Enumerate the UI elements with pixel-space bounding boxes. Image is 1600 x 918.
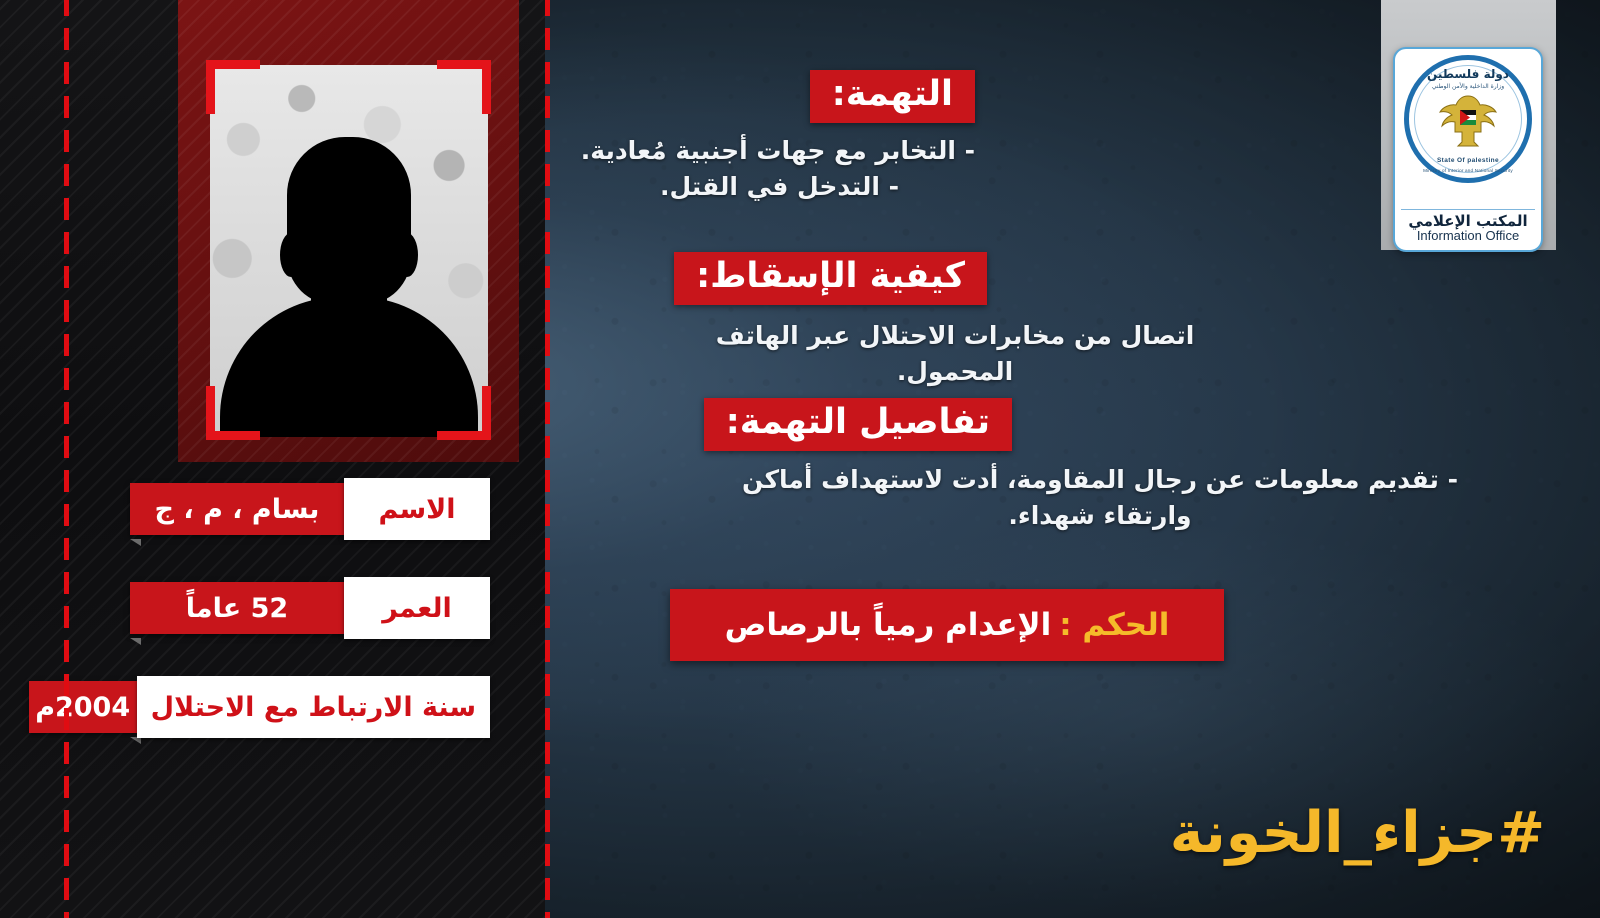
section-body-details: - تقديم معلومات عن رجال المقاومة، أدت لا… (660, 462, 1540, 533)
details-line-1: - تقديم معلومات عن رجال المقاومة، أدت لا… (660, 462, 1540, 498)
divider-dashed-inner (545, 0, 550, 918)
divider-dashed-outer (64, 0, 69, 918)
charge-item-1: - التخابر مع جهات أجنبية مُعادية. (660, 133, 975, 169)
section-heading-details: تفاصيل التهمة: (704, 398, 1012, 451)
section-body-charge: - التخابر مع جهات أجنبية مُعادية. - التد… (660, 133, 975, 204)
info-row-fold-shadow (130, 638, 141, 645)
focus-corner-top-right-icon (437, 60, 491, 114)
info-row-name: الاسم بسام ، م ، ج (130, 478, 490, 540)
info-value-name: بسام ، م ، ج (130, 483, 344, 535)
info-row-fold-shadow (130, 539, 141, 546)
hashtag-text: #جزاء_الخونة (1170, 800, 1545, 866)
section-body-method: اتصال من مخابرات الاحتلال عبر الهاتف الم… (660, 318, 1250, 389)
main-content: التهمة: - التخابر مع جهات أجنبية مُعادية… (660, 0, 1600, 918)
verdict-label: الحكم : (1059, 607, 1169, 643)
suspect-photo (210, 65, 488, 437)
silhouette-ear-right (396, 233, 418, 277)
focus-corner-bottom-left-icon (206, 386, 260, 440)
poster-root: الاسم بسام ، م ، ج العمر 52 عاماً سنة ال… (0, 0, 1600, 918)
section-heading-charge: التهمة: (810, 70, 975, 123)
info-value-age: 52 عاماً (130, 582, 344, 634)
info-label-age: العمر (344, 577, 490, 639)
info-label-name: الاسم (344, 478, 490, 540)
info-value-recruitment-year: 2004م (29, 681, 137, 733)
photo-frame-block (178, 0, 519, 462)
section-heading-method: كيفية الإسقاط: (674, 252, 987, 305)
info-row-age: العمر 52 عاماً (130, 577, 490, 639)
info-row-recruitment-year: سنة الارتباط مع الاحتلال 2004م (130, 676, 490, 738)
charge-item-2: - التدخل في القتل. (660, 169, 975, 205)
focus-corner-bottom-right-icon (437, 386, 491, 440)
verdict-banner: الحكم : الإعدام رمياً بالرصاص (670, 589, 1224, 661)
focus-corner-top-left-icon (206, 60, 260, 114)
profile-panel: الاسم بسام ، م ، ج العمر 52 عاماً سنة ال… (0, 0, 545, 918)
silhouette-ear-left (280, 233, 302, 277)
info-label-recruitment-year: سنة الارتباط مع الاحتلال (137, 676, 490, 738)
verdict-value: الإعدام رمياً بالرصاص (725, 607, 1052, 643)
details-line-2: وارتقاء شهداء. (660, 498, 1540, 534)
info-row-fold-shadow (130, 737, 141, 744)
profile-info-list: الاسم بسام ، م ، ج العمر 52 عاماً سنة ال… (130, 478, 490, 775)
